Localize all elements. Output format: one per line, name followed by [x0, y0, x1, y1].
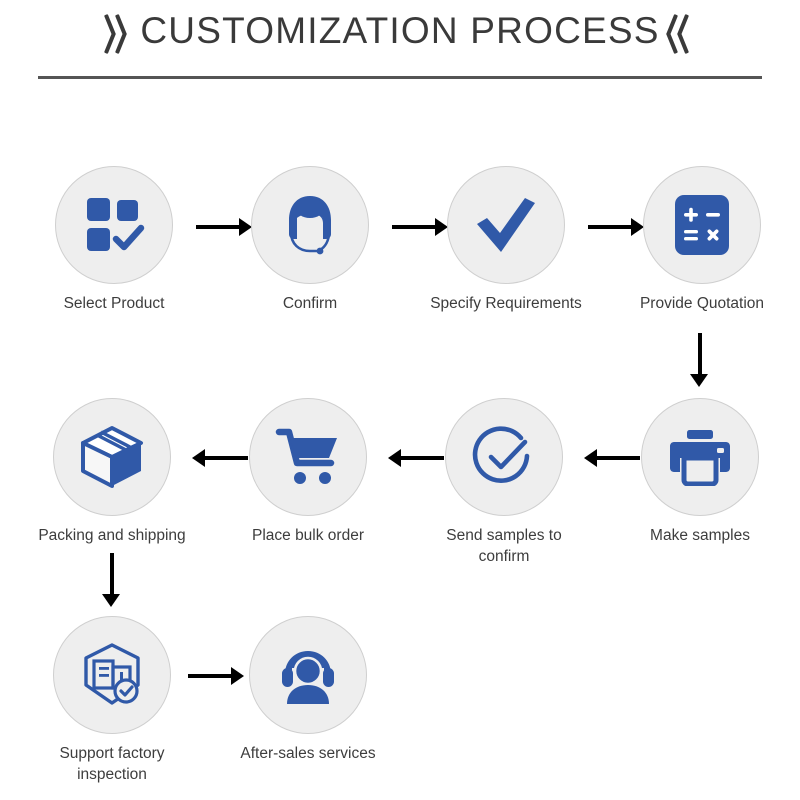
step-confirm[interactable]: Confirm [230, 166, 390, 315]
step-label: Make samples [620, 526, 780, 547]
arrow-left-3 [192, 448, 248, 468]
step-label: Specify Requirements [426, 294, 586, 315]
step-icon-circle [447, 166, 565, 284]
step-icon-circle [249, 398, 367, 516]
checkmark-icon [473, 194, 539, 256]
double-right-chevron-icon [104, 8, 134, 54]
step-icon-circle [55, 166, 173, 284]
arrow-down-1 [690, 333, 710, 387]
circle-check-icon [471, 424, 537, 490]
step-send-samples-to-confirm[interactable]: Send samples to confirm [424, 398, 584, 568]
shopping-cart-icon [275, 427, 341, 487]
step-icon-circle [643, 166, 761, 284]
step-select-product[interactable]: Select Product [34, 166, 194, 315]
package-box-icon [79, 425, 145, 489]
step-icon-circle [641, 398, 759, 516]
printer-icon [668, 428, 732, 486]
step-specify-requirements[interactable]: Specify Requirements [426, 166, 586, 315]
step-icon-circle [445, 398, 563, 516]
step-icon-circle [53, 616, 171, 734]
step-icon-circle [251, 166, 369, 284]
step-place-bulk-order[interactable]: Place bulk order [228, 398, 388, 547]
arrow-down-2 [102, 553, 122, 607]
step-make-samples[interactable]: Make samples [620, 398, 780, 547]
title-divider [38, 76, 762, 79]
header: CUSTOMIZATION PROCESS [0, 0, 800, 92]
step-label: Select Product [34, 294, 194, 315]
title-row: CUSTOMIZATION PROCESS [0, 8, 800, 54]
calculator-icon [672, 192, 732, 258]
step-label: Support factory inspection [37, 744, 187, 786]
step-label: Confirm [230, 294, 390, 315]
step-after-sales-services[interactable]: After-sales services [228, 616, 388, 765]
headset-operator-icon [277, 192, 343, 258]
page-title: CUSTOMIZATION PROCESS [140, 10, 659, 52]
headphones-support-icon [276, 644, 340, 706]
grid-squares-check-icon [83, 194, 145, 256]
step-packing-and-shipping[interactable]: Packing and shipping [32, 398, 192, 547]
step-icon-circle [249, 616, 367, 734]
arrow-left-2 [388, 448, 444, 468]
arrow-left-1 [584, 448, 640, 468]
step-provide-quotation[interactable]: Provide Quotation [622, 166, 782, 315]
step-icon-circle [53, 398, 171, 516]
step-label: After-sales services [228, 744, 388, 765]
customization-process-infographic: CUSTOMIZATION PROCESS Select Product [0, 0, 800, 800]
factory-inspection-shield-icon [78, 641, 146, 709]
step-label: Packing and shipping [32, 526, 192, 547]
double-left-chevron-icon [666, 8, 696, 54]
step-label: Provide Quotation [622, 294, 782, 315]
step-label: Send samples to confirm [424, 526, 584, 568]
step-label: Place bulk order [228, 526, 388, 547]
step-support-factory-inspection[interactable]: Support factory inspection [32, 616, 192, 786]
